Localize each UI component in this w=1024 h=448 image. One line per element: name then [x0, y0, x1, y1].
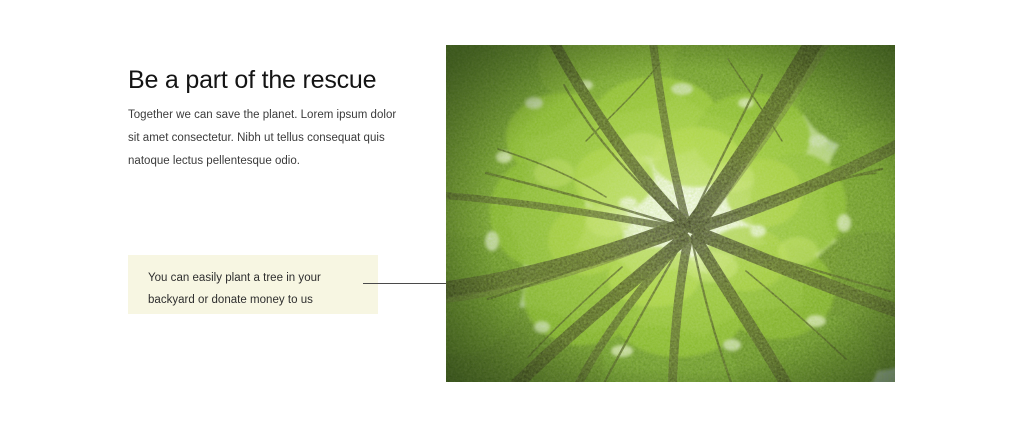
callout-box: You can easily plant a tree in your back… [128, 255, 378, 314]
callout-connector-line [363, 283, 447, 284]
callout-text: You can easily plant a tree in your back… [148, 267, 364, 311]
intro-paragraph: Together we can save the planet. Lorem i… [128, 104, 400, 173]
forest-canopy-illustration [446, 45, 895, 382]
page-title: Be a part of the rescue [128, 63, 376, 97]
forest-canopy-photo [446, 45, 895, 382]
page-canvas: Be a part of the rescue Together we can … [0, 0, 1024, 448]
